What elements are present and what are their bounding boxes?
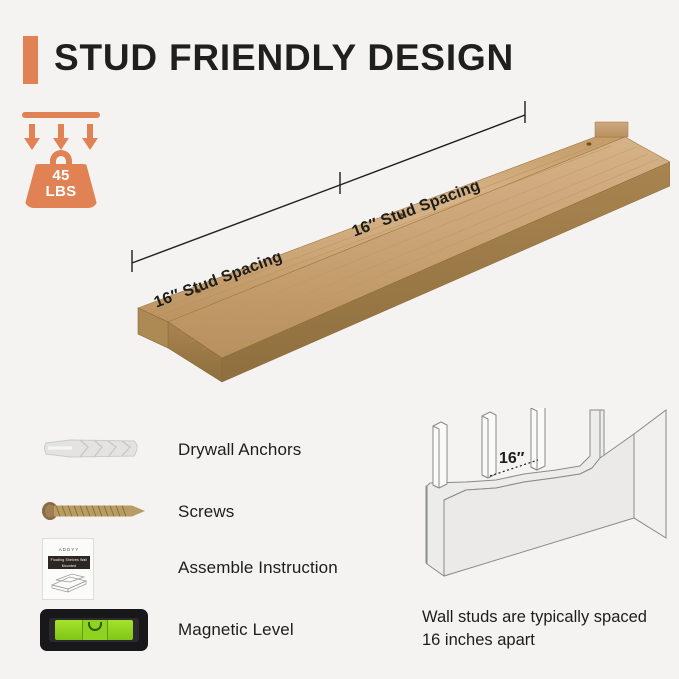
magnetic-level-icon — [36, 600, 151, 660]
instruction-booklet-icon: ADDYY Floating Shelves Wall Mounted Prod… — [36, 538, 151, 598]
page-title: STUD FRIENDLY DESIGN — [54, 37, 514, 79]
booklet-title-band: Floating Shelves Wall Mounted Product In… — [48, 556, 90, 569]
stud-dimension-label: 16″ — [499, 450, 524, 468]
booklet-title-line1: Floating Shelves Wall Mounted — [48, 556, 90, 569]
accessory-list: Drywall Anchors Screws ADDYY — [0, 410, 400, 675]
wall-stud-diagram: 16″ — [404, 408, 674, 593]
arrow-down-icon — [24, 124, 40, 150]
list-item: Screws — [36, 482, 386, 542]
list-item: Magnetic Level — [36, 600, 386, 660]
drywall-anchor-icon — [36, 420, 151, 480]
title-accent-bar — [23, 36, 38, 84]
screw-icon — [36, 482, 151, 542]
list-item: ADDYY Floating Shelves Wall Mounted Prod… — [36, 538, 386, 598]
header: STUD FRIENDLY DESIGN — [0, 0, 679, 100]
accessory-label: Assemble Instruction — [178, 538, 338, 598]
booklet-brand: ADDYY — [43, 547, 95, 552]
accessory-label: Screws — [178, 482, 234, 542]
shelf-illustration: 16″ Stud Spacing 16″ Stud Spacing — [70, 100, 670, 385]
accessory-label: Drywall Anchors — [178, 420, 301, 480]
accessory-label: Magnetic Level — [178, 600, 294, 660]
stud-diagram-caption: Wall studs are typically spaced 16 inche… — [422, 606, 662, 652]
booklet-diagram — [48, 573, 90, 595]
list-item: Drywall Anchors — [36, 420, 386, 480]
weight-value: 45 — [52, 167, 69, 184]
arrow-down-icon — [53, 124, 69, 150]
